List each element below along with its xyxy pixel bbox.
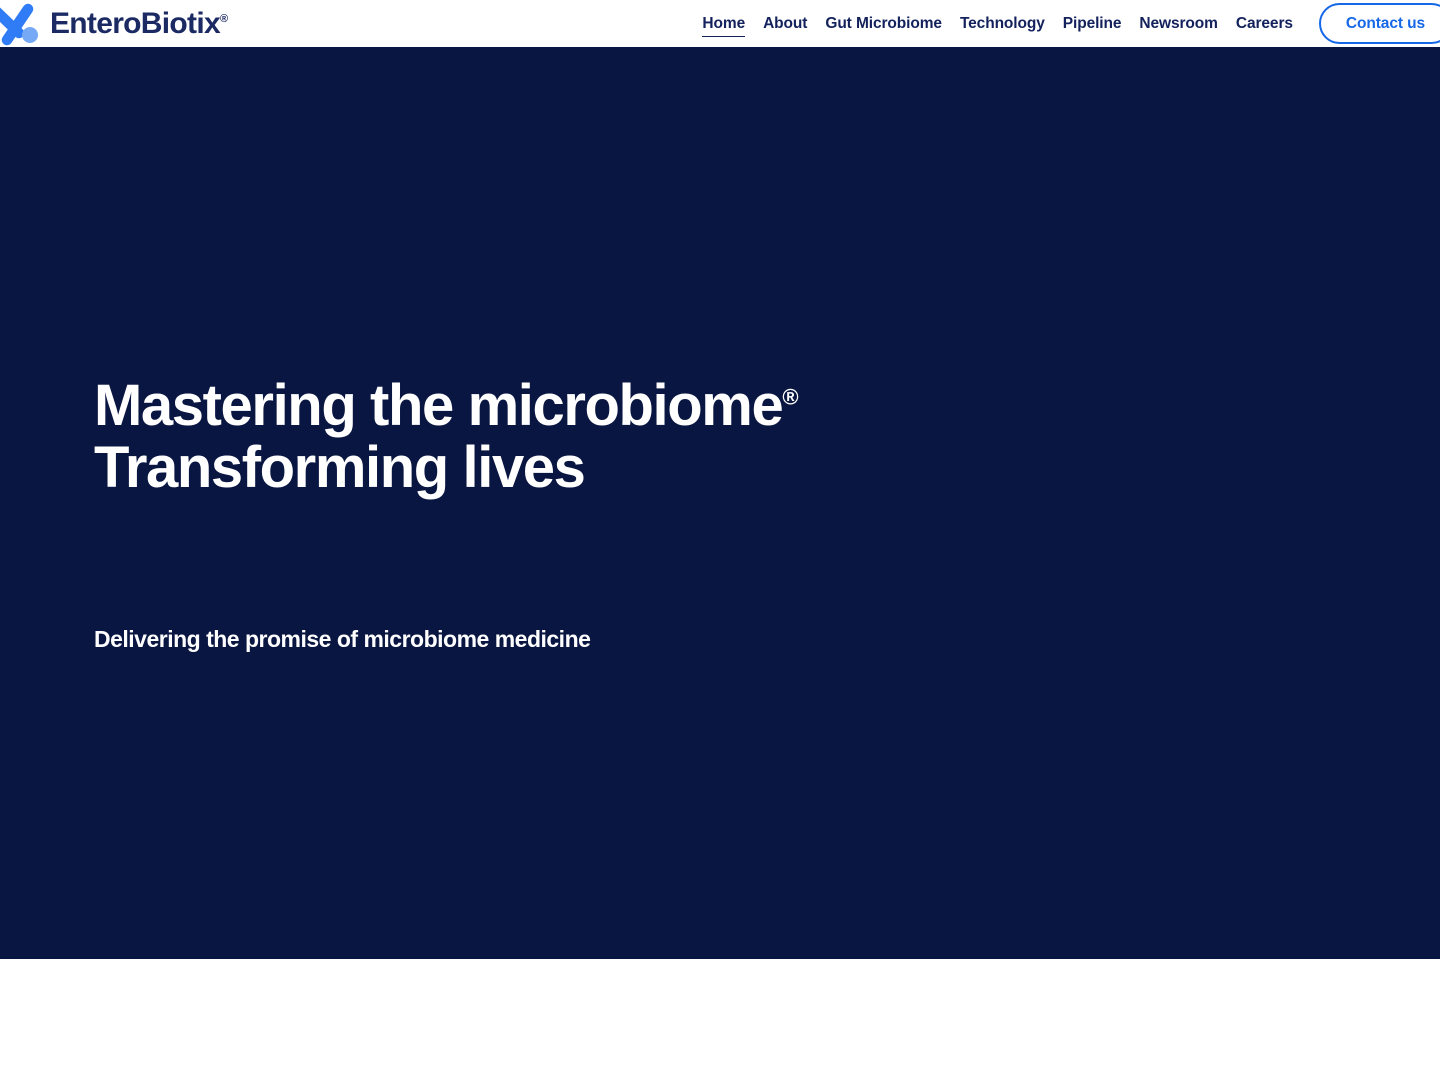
nav-item-careers[interactable]: Careers	[1227, 0, 1302, 47]
hero-section: Mastering the microbiome®Transforming li…	[0, 47, 1440, 959]
brand-registered-icon: ®	[220, 13, 228, 25]
hero-heading: Mastering the microbiome®Transforming li…	[94, 375, 799, 499]
brand-name-text: EnteroBiotix	[50, 7, 220, 40]
nav-item-pipeline[interactable]: Pipeline	[1054, 0, 1131, 47]
hero-heading-line-2: Transforming lives	[94, 435, 585, 500]
brand-logo-link[interactable]: EnteroBiotix®	[0, 0, 228, 47]
site-header: EnteroBiotix® Home About Gut Microbiome …	[0, 0, 1440, 47]
hero-registered-icon: ®	[782, 385, 798, 410]
nav-item-technology[interactable]: Technology	[951, 0, 1054, 47]
page-root: EnteroBiotix® Home About Gut Microbiome …	[0, 0, 1440, 1080]
nav-item-about[interactable]: About	[754, 0, 816, 47]
nav-item-newsroom[interactable]: Newsroom	[1130, 0, 1226, 47]
brand-wordmark: EnteroBiotix®	[50, 9, 228, 39]
nav-item-home[interactable]: Home	[693, 0, 754, 47]
hero-heading-line-1: Mastering the microbiome	[94, 373, 782, 438]
nav-item-gut-microbiome[interactable]: Gut Microbiome	[816, 0, 951, 47]
enterobiotix-x-mark-icon	[0, 2, 46, 46]
contact-us-button[interactable]: Contact us	[1319, 3, 1440, 44]
hero-content: Mastering the microbiome®Transforming li…	[0, 47, 1440, 959]
primary-navigation: Home About Gut Microbiome Technology Pip…	[693, 0, 1440, 47]
hero-subheading: Delivering the promise of microbiome med…	[94, 625, 590, 655]
